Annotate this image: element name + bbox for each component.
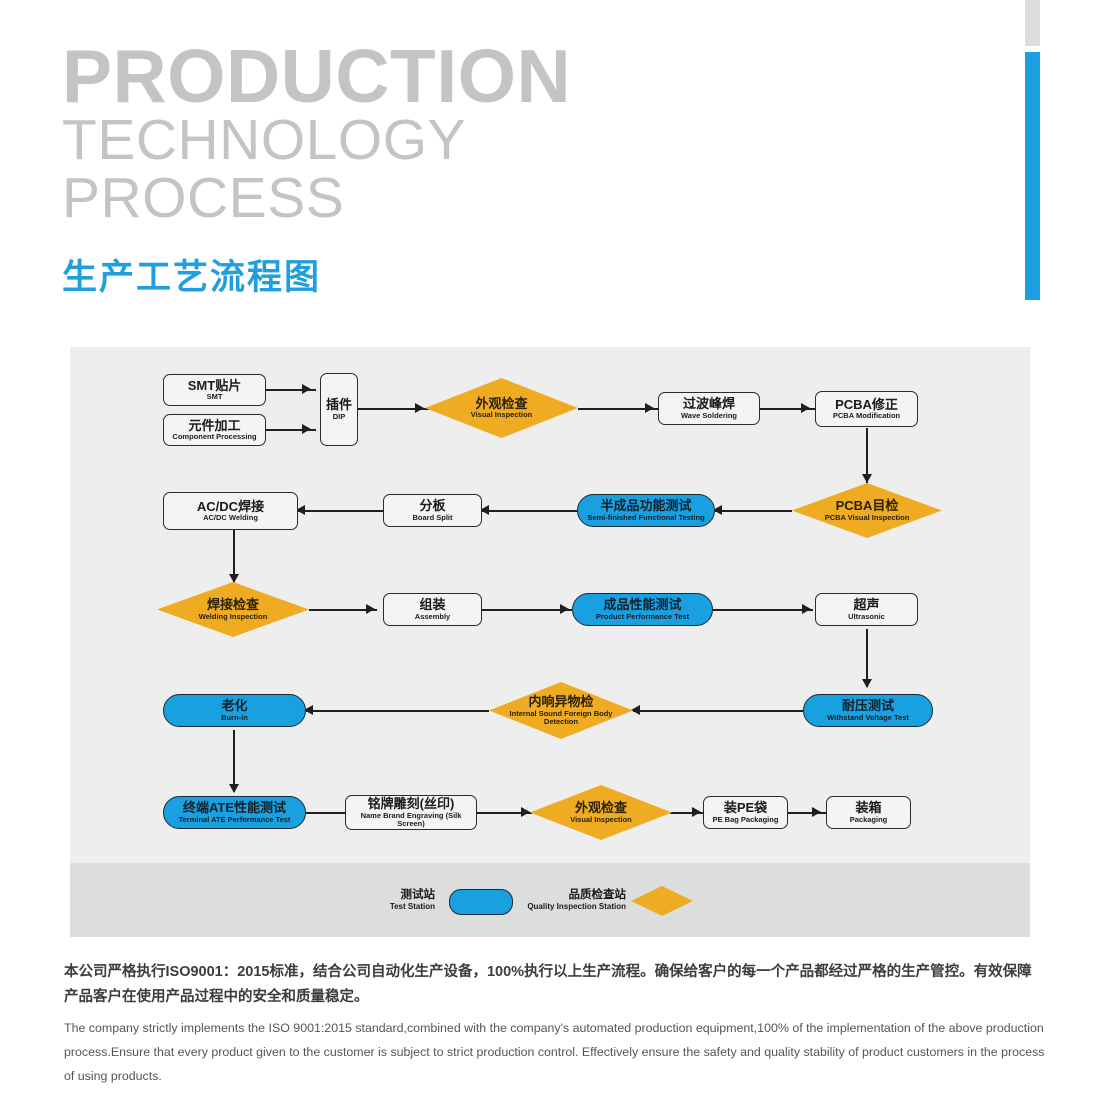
- page-subtitle-cn: 生产工艺流程图: [62, 249, 762, 300]
- node-welding-inspection-en: Welding Inspection: [199, 613, 268, 621]
- decorative-grey-bar: [1025, 0, 1040, 46]
- node-burn-in-cn: 老化: [221, 699, 247, 713]
- node-terminal-ate-performance-test[interactable]: 终端ATE性能测试 Terminal ATE Performance Test: [163, 796, 306, 829]
- node-packaging[interactable]: 装箱 Packaging: [826, 796, 911, 829]
- node-semi-finished-functional-testing-cn: 半成品功能测试: [600, 499, 691, 513]
- node-welding-inspection-cn: 焊接检查: [207, 598, 259, 612]
- node-pcba-modification-cn: PCBA修正: [835, 398, 898, 412]
- node-packaging-cn: 装箱: [855, 801, 881, 815]
- arrowhead-ultrasonic-voltage: [862, 679, 872, 688]
- node-withstand-voltage-test[interactable]: 耐压测试 Withstand Voltage Test: [803, 694, 933, 727]
- page-title-line1: PRODUCTION: [62, 42, 762, 111]
- legend-swatch-test-station: [449, 889, 513, 915]
- node-pcba-visual-inspection-en: PCBA Visual Inspection: [825, 514, 910, 522]
- node-component-processing-cn: 元件加工: [188, 419, 240, 433]
- node-board-split-en: Board Split: [412, 514, 452, 522]
- node-name-brand-engraving[interactable]: 铭牌雕刻(丝印) Name Brand Engraving (Silk Scre…: [345, 795, 477, 830]
- node-ultrasonic[interactable]: 超声 Ultrasonic: [815, 593, 918, 626]
- node-ultrasonic-cn: 超声: [853, 598, 879, 612]
- node-internal-sound-foreign-body-detection-cn: 内响异物检: [528, 695, 593, 709]
- node-product-performance-test-en: Product Performance Test: [596, 613, 689, 621]
- arrowhead-dip-visual1: [415, 403, 424, 413]
- connector-boardsplit-acdc: [298, 510, 383, 512]
- connector-perftest-ultrasonic: [713, 609, 813, 611]
- node-internal-sound-foreign-body-detection[interactable]: 内响异物检 Internal Sound Foreign Body Detect…: [489, 682, 633, 739]
- footer-paragraph-en: The company strictly implements the ISO …: [64, 1016, 1049, 1089]
- node-board-split[interactable]: 分板 Board Split: [383, 494, 482, 527]
- node-product-performance-test-cn: 成品性能测试: [603, 598, 681, 612]
- node-pe-bag-packaging-en: PE Bag Packaging: [713, 816, 779, 824]
- node-burn-in-en: Burn-in: [221, 714, 248, 722]
- node-terminal-ate-performance-test-en: Terminal ATE Performance Test: [179, 816, 291, 824]
- node-dip-en: DIP: [333, 413, 346, 421]
- node-internal-sound-foreign-body-detection-en: Internal Sound Foreign Body Detection: [509, 710, 614, 727]
- node-terminal-ate-performance-test-cn: 终端ATE性能测试: [183, 801, 286, 815]
- node-board-split-cn: 分板: [419, 499, 445, 513]
- node-smt-cn: SMT贴片: [188, 379, 241, 393]
- node-visual-inspection-2-cn: 外观检查: [575, 801, 627, 815]
- page-title-line3: PROCESS: [62, 169, 762, 227]
- connector-semifunc-boardsplit: [482, 510, 577, 512]
- node-semi-finished-functional-testing-en: Semi-finished Functional Testing: [587, 514, 704, 522]
- node-ultrasonic-en: Ultrasonic: [848, 613, 885, 621]
- arrowhead-visual2-pebag: [692, 807, 701, 817]
- arrowhead-wave-pcbamod: [801, 403, 810, 413]
- arrowhead-assembly-perftest: [560, 604, 569, 614]
- page-header: PRODUCTION TECHNOLOGY PROCESS 生产工艺流程图: [62, 42, 762, 300]
- arrowhead-visual1-wave: [645, 403, 654, 413]
- node-packaging-en: Packaging: [850, 816, 888, 824]
- node-component-processing-en: Component Processing: [172, 433, 256, 441]
- node-acdc-welding-en: AC/DC Welding: [203, 514, 258, 522]
- node-product-performance-test[interactable]: 成品性能测试 Product Performance Test: [572, 593, 713, 626]
- connector-pcbavis-semifunc: [715, 510, 792, 512]
- connector-voltage-soundfb: [633, 710, 803, 712]
- node-pcba-visual-inspection[interactable]: PCBA目检 PCBA Visual Inspection: [792, 483, 942, 538]
- arrowhead-pcbamod-pcbavis: [862, 474, 872, 483]
- arrowhead-component-dip: [302, 424, 311, 434]
- legend-test-station-en: Test Station: [360, 902, 435, 911]
- node-wave-soldering-en: Wave Soldering: [681, 412, 737, 420]
- legend-quality-station-en: Quality Inspection Station: [516, 902, 626, 911]
- node-acdc-welding-cn: AC/DC焊接: [197, 500, 264, 514]
- node-wave-soldering-cn: 过波峰焊: [683, 397, 735, 411]
- node-visual-inspection-1[interactable]: 外观检查 Visual Inspection: [425, 378, 578, 438]
- node-withstand-voltage-test-en: Withstand Voltage Test: [827, 714, 909, 722]
- node-name-brand-engraving-cn: 铭牌雕刻(丝印): [368, 797, 455, 811]
- node-assembly[interactable]: 组装 Assembly: [383, 593, 482, 626]
- node-pe-bag-packaging[interactable]: 装PE袋 PE Bag Packaging: [703, 796, 788, 829]
- arrowhead-engraving-visual2: [521, 807, 530, 817]
- node-smt[interactable]: SMT贴片 SMT: [163, 374, 266, 406]
- legend-test-station-cn: 测试站: [360, 889, 435, 902]
- arrowhead-perftest-ultrasonic: [802, 604, 811, 614]
- connector-soundfb-burnin: [306, 710, 489, 712]
- connector-burnin-ate: [233, 730, 235, 792]
- page-title-line2: TECHNOLOGY: [62, 111, 762, 169]
- node-assembly-cn: 组装: [419, 598, 445, 612]
- node-wave-soldering[interactable]: 过波峰焊 Wave Soldering: [658, 392, 760, 425]
- node-visual-inspection-1-cn: 外观检查: [475, 397, 527, 411]
- connector-assembly-perftest: [482, 609, 572, 611]
- node-visual-inspection-2-en: Visual Inspection: [570, 816, 632, 824]
- decorative-blue-bar: [1025, 52, 1040, 300]
- arrowhead-burnin-ate: [229, 784, 239, 793]
- node-dip-cn: 插件: [326, 398, 352, 412]
- legend-quality-station-cn: 品质检查站: [516, 889, 626, 902]
- legend-label-test-station: 测试站 Test Station: [360, 889, 435, 911]
- node-visual-inspection-2[interactable]: 外观检查 Visual Inspection: [530, 785, 672, 840]
- node-semi-finished-functional-testing[interactable]: 半成品功能测试 Semi-finished Functional Testing: [577, 494, 715, 527]
- node-pe-bag-packaging-cn: 装PE袋: [724, 801, 767, 815]
- legend-label-quality-inspection-station: 品质检查站 Quality Inspection Station: [516, 889, 626, 911]
- node-welding-inspection[interactable]: 焊接检查 Welding Inspection: [157, 582, 309, 637]
- arrowhead-smt-dip: [302, 384, 311, 394]
- node-dip[interactable]: 插件 DIP: [320, 373, 358, 446]
- node-acdc-welding[interactable]: AC/DC焊接 AC/DC Welding: [163, 492, 298, 530]
- node-pcba-modification-en: PCBA Modification: [833, 412, 900, 420]
- node-visual-inspection-1-en: Visual Inspection: [471, 411, 533, 419]
- node-pcba-modification[interactable]: PCBA修正 PCBA Modification: [815, 391, 918, 427]
- node-component-processing[interactable]: 元件加工 Component Processing: [163, 414, 266, 446]
- node-withstand-voltage-test-cn: 耐压测试: [842, 699, 894, 713]
- node-smt-en: SMT: [207, 393, 223, 401]
- arrowhead-weldinsp-assembly: [366, 604, 375, 614]
- footer-paragraph-cn: 本公司严格执行ISO9001：2015标准，结合公司自动化生产设备，100%执行…: [64, 960, 1044, 1011]
- node-name-brand-engraving-en: Name Brand Engraving (Silk Screen): [346, 812, 476, 829]
- node-burn-in[interactable]: 老化 Burn-in: [163, 694, 306, 727]
- arrowhead-pebag-packaging: [812, 807, 821, 817]
- node-assembly-en: Assembly: [415, 613, 450, 621]
- node-pcba-visual-inspection-cn: PCBA目检: [836, 499, 899, 513]
